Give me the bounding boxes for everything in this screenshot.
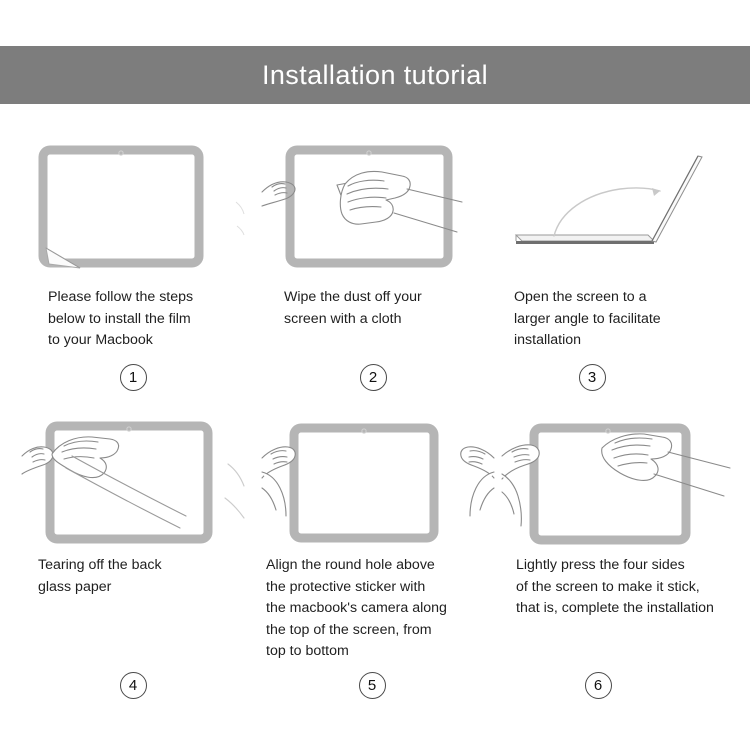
step-4-caption: Tearing off the back glass paper [38,555,244,598]
laptop-opening-angle-icon [502,140,734,285]
step-5-illustration [262,416,494,561]
step-5-caption: Align the round hole above the protectiv… [266,555,494,663]
screen-with-peeling-corner-icon [22,140,244,285]
step-panel-3: Open the screen to a larger angle to fac… [502,140,734,352]
step-badge: 6 [585,672,612,699]
hands-pressing-screen-edges-icon [502,416,742,561]
hands-tearing-back-paper-icon [22,416,244,561]
step-badge: 2 [360,364,387,391]
step-panel-6: Lightly press the four sides of the scre… [502,416,742,620]
step-1-badge-row: 1 [22,364,244,391]
step-6-caption: Lightly press the four sides of the scre… [516,555,742,620]
step-panel-4: Tearing off the back glass paper 4 [22,416,244,598]
step-6-illustration [502,416,742,561]
step-6-badge-row: 6 [478,672,718,699]
step-2-caption: Wipe the dust off your screen with a clo… [284,287,484,330]
step-2-illustration [262,140,484,285]
step-1-caption: Please follow the steps below to install… [48,287,244,352]
step-5-badge-row: 5 [256,672,488,699]
step-badge: 3 [579,364,606,391]
step-3-caption: Open the screen to a larger angle to fac… [514,287,734,352]
step-4-badge-row: 4 [22,672,244,699]
tutorial-page: Installation tutorial [0,0,750,750]
step-2-badge-row: 2 [262,364,484,391]
two-hands-aligning-film-icon [262,416,494,561]
step-badge: 4 [120,672,147,699]
step-4-illustration [22,416,244,561]
step-panel-2: Wipe the dust off your screen with a clo… [262,140,484,330]
step-1-illustration [22,140,244,285]
step-badge: 5 [359,672,386,699]
step-panel-5: Align the round hole above the protectiv… [262,416,494,663]
hand-wiping-screen-with-cloth-icon [262,140,484,285]
steps-grid: Please follow the steps below to install… [0,104,750,750]
header-banner: Installation tutorial [0,46,750,104]
step-3-badge-row: 3 [476,364,708,391]
step-panel-1: Please follow the steps below to install… [22,140,244,352]
step-3-illustration [502,140,734,285]
step-badge: 1 [120,364,147,391]
page-title: Installation tutorial [262,60,488,91]
